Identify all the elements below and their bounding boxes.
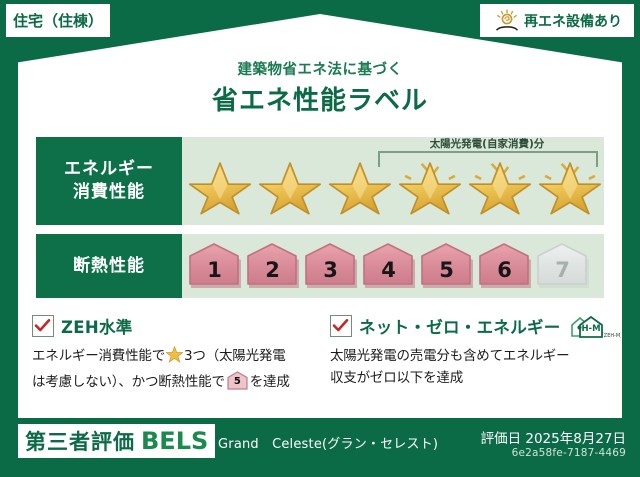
criteria-zeh-title: ZEH水準 — [61, 314, 133, 338]
zeh-body-text1: エネルギー消費性能で — [32, 348, 165, 364]
label-title: 省エネ性能ラベル — [0, 80, 640, 117]
building-name: Grand Celeste(グラン・セレスト) — [218, 433, 438, 452]
bels-en-label: BELS — [141, 427, 208, 455]
housing-type-label: 住宅（住棟） — [13, 10, 103, 31]
label-subtitle: 建築物省エネ法に基づく — [0, 58, 640, 79]
criteria-net-zero: ネット・ゼロ・エネルギー H-M 「ZEH-M」 太陽光発電の売電分も含めてエネ… — [330, 312, 616, 389]
evaluation-date: 評価日 2025年8月27日 — [481, 427, 626, 447]
criteria-zeh-body: エネルギー消費性能で 3つ（太陽光発電 は考慮しない）、かつ断熱性能で 5 を達… — [32, 346, 318, 393]
insulation-level-badge-number: 5 — [227, 371, 248, 390]
svg-text:「ZEH-M」: 「ZEH-M」 — [598, 333, 620, 339]
housing-type-tag: 住宅（住棟） — [6, 4, 110, 37]
insulation-level-number: 2 — [265, 258, 280, 282]
zeh-body-text3: は考慮しない）、かつ断熱性能で — [32, 374, 225, 390]
net-zero-body-line2: 収支がゼロ以下を達成 — [330, 370, 463, 386]
insulation-house-filled: 2 — [244, 240, 301, 292]
insulation-house-filled: 4 — [360, 240, 417, 292]
net-zero-checkbox[interactable] — [330, 315, 352, 337]
renewable-energy-tag: 再エネ設備あり — [480, 4, 634, 37]
insulation-level-badge: 5 — [227, 371, 248, 390]
energy-stars-panel: 太陽光発電(自家消費)分 — [182, 137, 604, 225]
insulation-level-number: 4 — [381, 258, 396, 282]
energy-performance-label: エネルギー 消費性能 — [36, 137, 182, 225]
star-icon-solar — [396, 157, 464, 219]
net-zero-body-line1: 太陽光発電の売電分も含めてエネルギー — [330, 348, 569, 364]
zeh-body-text2: 3つ（太陽光発電 — [184, 348, 286, 364]
criteria-net-zero-title: ネット・ゼロ・エネルギー — [359, 314, 561, 338]
insulation-level-number: 7 — [555, 258, 570, 282]
bels-jp-label: 第三者評価 — [25, 426, 135, 456]
energy-performance-row: エネルギー 消費性能 太陽光発電(自家消費)分 — [36, 137, 604, 225]
criteria-zeh-header: ZEH水準 — [32, 312, 318, 340]
zeh-checkbox[interactable] — [32, 315, 54, 337]
insulation-level-number: 6 — [497, 258, 512, 282]
energy-star-rating — [182, 157, 608, 221]
insulation-level-number: 1 — [207, 258, 222, 282]
label-footer: 第三者評価 BELS Grand Celeste(グラン・セレスト) 評価日 2… — [0, 418, 640, 477]
insulation-label-line1: 断熱性能 — [73, 255, 145, 278]
insulation-house-filled: 6 — [476, 240, 533, 292]
star-icon — [256, 157, 324, 219]
star-icon-solar — [536, 157, 604, 219]
star-icon-solar — [466, 157, 534, 219]
zeh-m-logo-icon: H-M 「ZEH-M」 — [569, 313, 621, 339]
bels-badge: 第三者評価 BELS — [18, 424, 215, 458]
solar-bracket-label: 太陽光発電(自家消費)分 — [367, 136, 607, 151]
insulation-scale-panel: 1 2 — [182, 234, 604, 298]
insulation-performance-row: 断熱性能 1 — [36, 234, 604, 298]
sun-icon — [494, 9, 520, 33]
insulation-house-filled: 1 — [186, 240, 243, 292]
energy-label-line1: エネルギー — [64, 158, 154, 181]
energy-label-line2: 消費性能 — [73, 181, 145, 204]
insulation-house-filled: 5 — [418, 240, 475, 292]
insulation-performance-label: 断熱性能 — [36, 234, 182, 298]
star-icon — [326, 157, 394, 219]
insulation-level-scale: 1 2 — [182, 240, 604, 292]
zeh-body-text4: を達成 — [250, 374, 290, 390]
insulation-house-filled: 3 — [302, 240, 359, 292]
evaluation-id: 6e2a58fe-7187-4469 — [512, 447, 626, 459]
energy-label-card: 住宅（住棟） 再エネ設備あり 建築物省エネ法に基づく 省エネ性能ラベル — [0, 0, 640, 477]
insulation-house-empty: 7 — [534, 240, 591, 292]
renewable-energy-label: 再エネ設備あり — [524, 11, 622, 31]
star-icon — [186, 157, 254, 219]
criteria-net-zero-header: ネット・ゼロ・エネルギー H-M 「ZEH-M」 — [330, 312, 616, 340]
criteria-zeh: ZEH水準 エネルギー消費性能で 3つ（太陽光発電 は考慮しない）、かつ断熱性能… — [32, 312, 318, 393]
insulation-level-number: 3 — [323, 258, 338, 282]
svg-text:H-M: H-M — [581, 324, 600, 334]
star-icon — [166, 346, 183, 371]
insulation-level-number: 5 — [439, 258, 454, 282]
criteria-net-zero-body: 太陽光発電の売電分も含めてエネルギー 収支がゼロ以下を達成 — [330, 346, 616, 389]
